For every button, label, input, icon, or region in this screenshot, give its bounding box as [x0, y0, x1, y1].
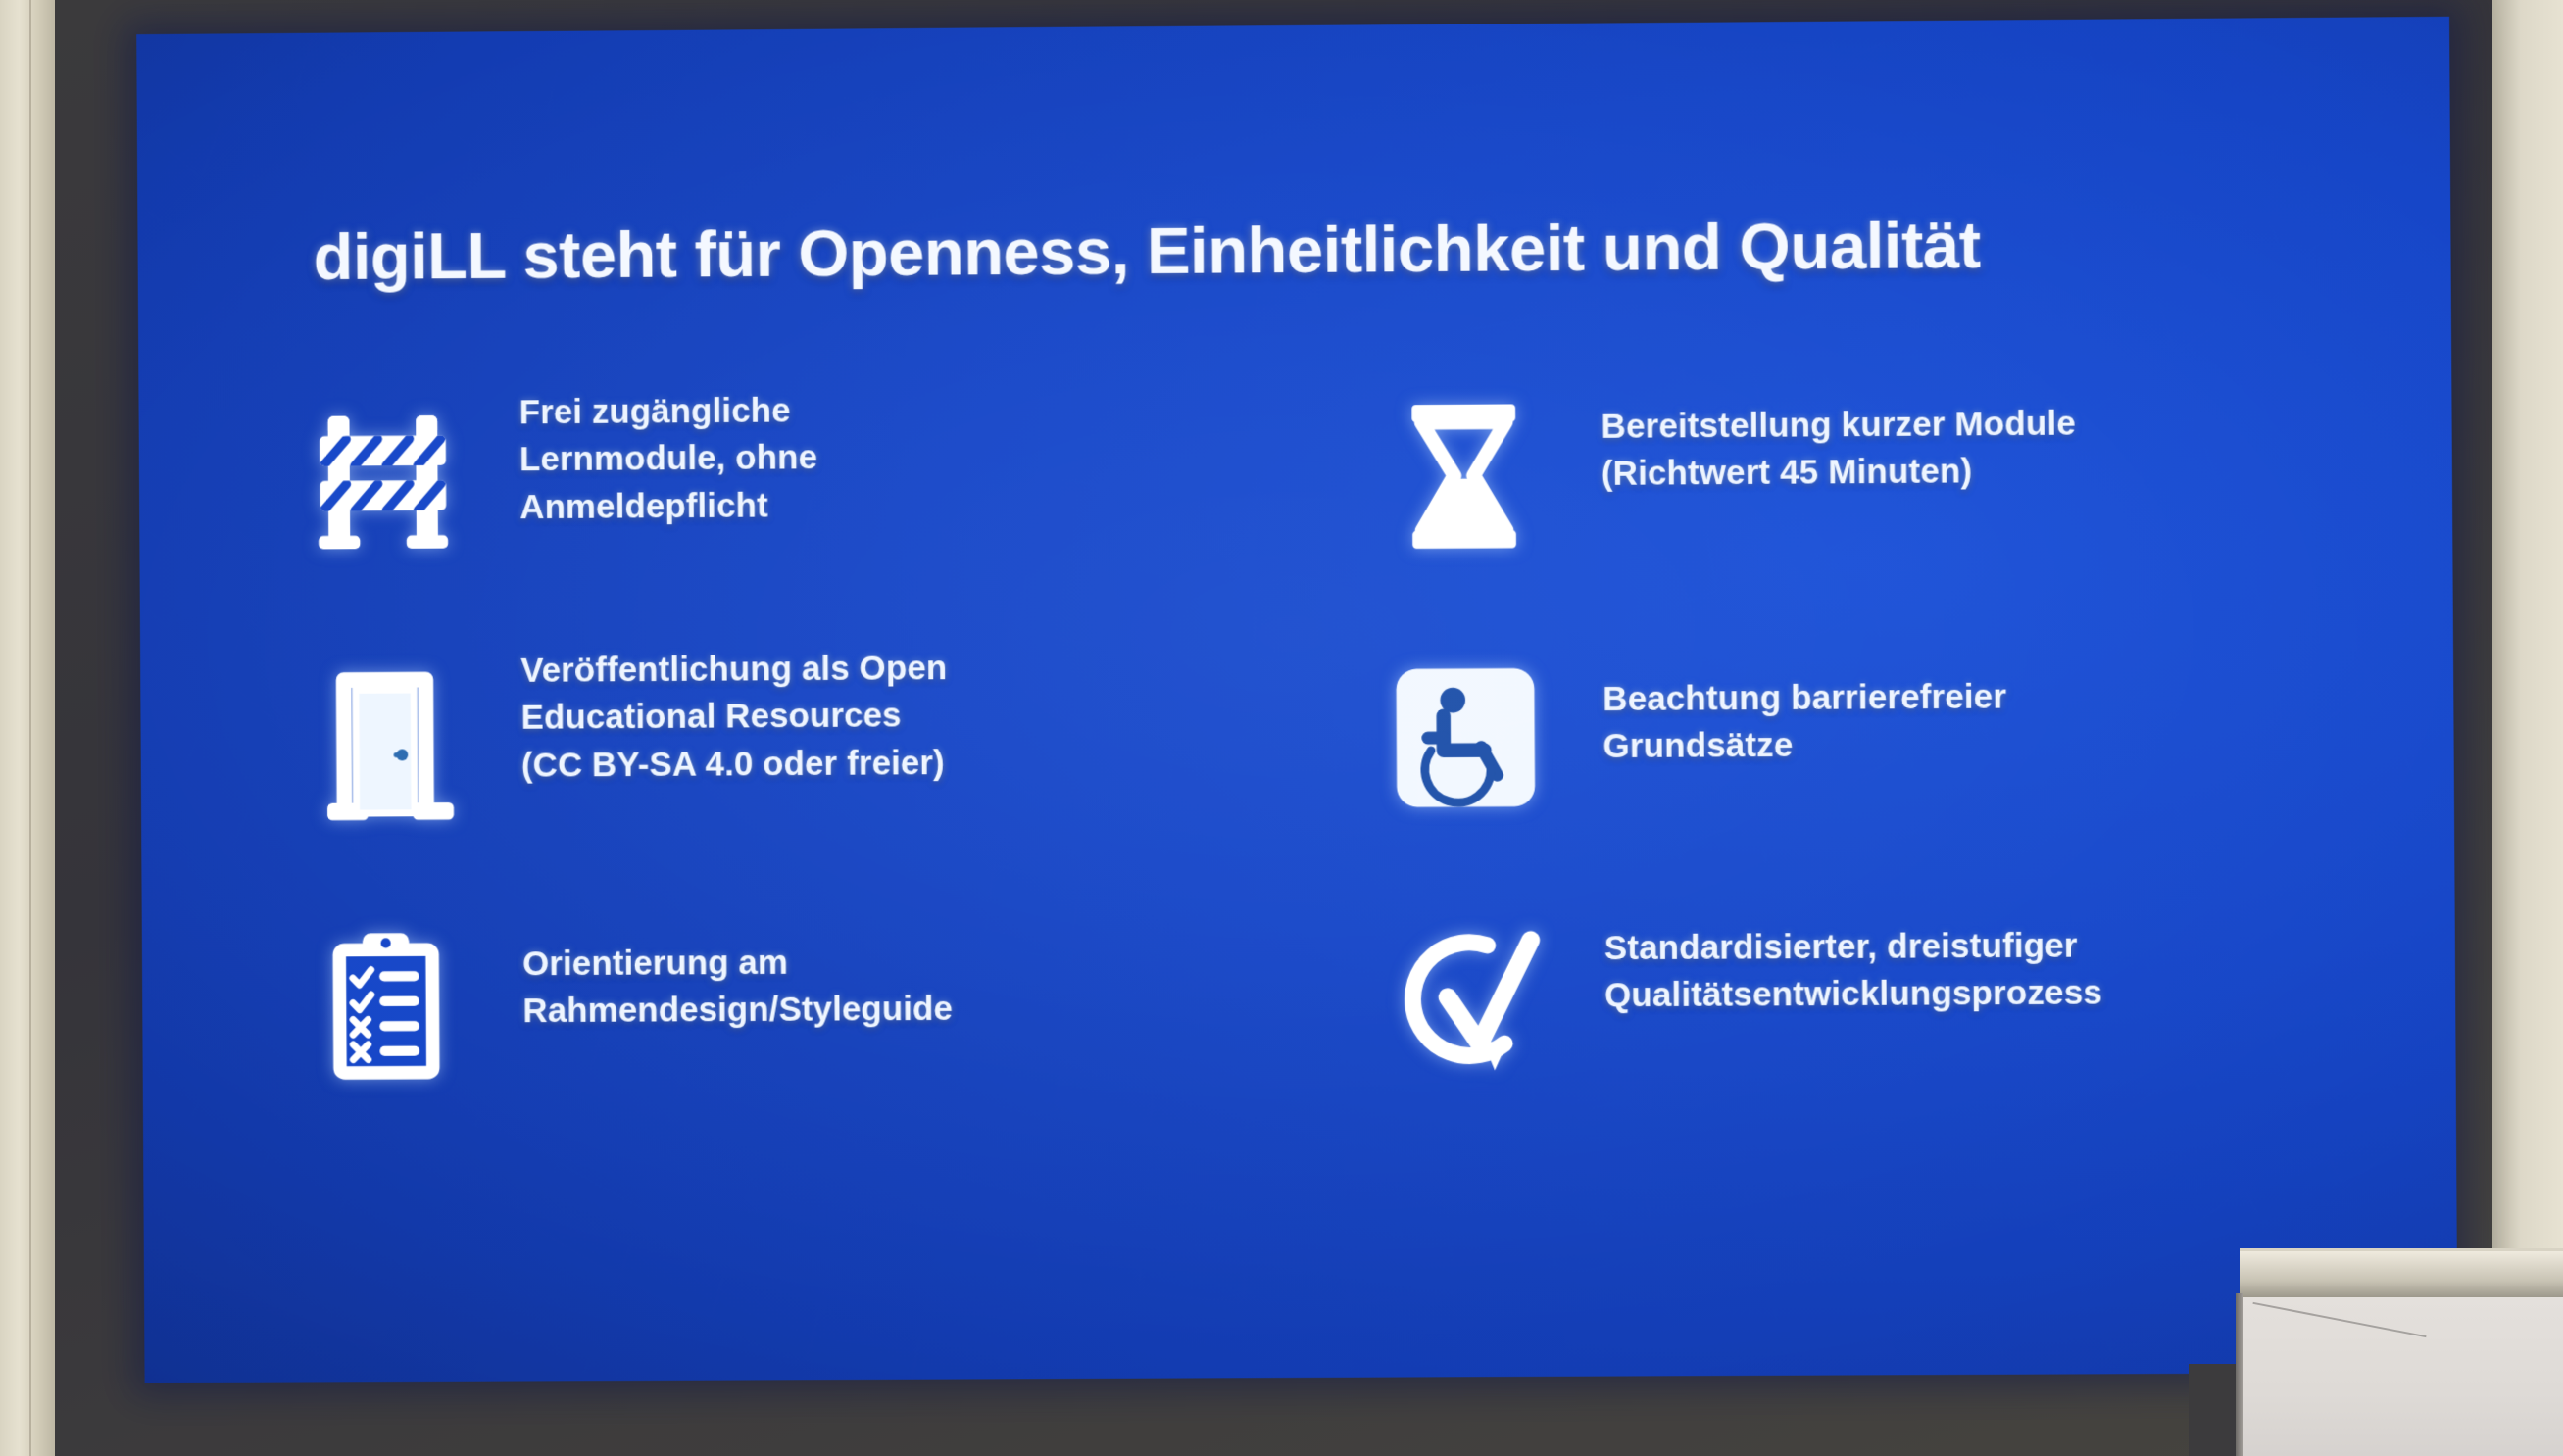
feature-item-text: Frei zugängliche Lernmodule, ohne Anmeld… [519, 378, 1268, 531]
feature-line: Orientierung am [522, 937, 1271, 988]
construction-barrier-icon [285, 384, 481, 581]
flipchart-paper-sheet [2243, 1297, 2563, 1456]
feature-line: Anmeldepflicht [519, 479, 1268, 531]
feature-line: Veröffentlichung als Open [520, 643, 1269, 695]
projected-slide: digiLL steht für Openness, Einheitlichke… [136, 17, 2457, 1383]
feature-line: Qualitätsentwicklungsprozess [1604, 969, 2328, 1020]
flipchart-foreground-object [2230, 1248, 2563, 1456]
feature-line: (Richtwert 45 Minuten) [1602, 446, 2325, 498]
slide-canvas: digiLL steht für Openness, Einheitlichke… [136, 17, 2457, 1383]
wheelchair-accessibility-icon [1367, 639, 1564, 836]
feature-line: Beachtung barrierefreier [1602, 672, 2326, 724]
feature-line: Bereitstellung kurzer Module [1601, 399, 2324, 451]
feature-item-text: Beachtung barrierefreier Grundsätze [1602, 634, 2326, 770]
feature-item-text: Veröffentlichung als Open Educational Re… [520, 641, 1269, 789]
quality-cycle-check-icon [1368, 901, 1565, 1098]
feature-item-styleguide: Orientierung am Rahmendesign/Styleguide [288, 903, 1272, 1171]
feature-line: Standardisierter, dreistufiger [1604, 921, 2328, 972]
feature-item-open-access: Frei zugängliche Lernmodule, ohne Anmeld… [285, 378, 1269, 647]
wall-strip-left [0, 0, 55, 1456]
clipboard-checklist-icon [288, 908, 484, 1105]
feature-line: Grundsätze [1602, 719, 2326, 771]
feature-line: Educational Resources [520, 690, 1269, 742]
hourglass-icon [1365, 376, 1562, 573]
slide-title: digiLL steht für Openness, Einheitlichke… [313, 209, 2323, 292]
flipchart-shadow [2189, 1364, 2238, 1456]
feature-item-short-modules: Bereitstellung kurzer Module (Richtwert … [1336, 371, 2325, 641]
feature-item-text: Standardisierter, dreistufiger Qualitäts… [1603, 898, 2327, 1020]
feature-line: Frei zugängliche [519, 384, 1268, 436]
photographed-presentation-scene: digiLL steht für Openness, Einheitlichke… [0, 0, 2563, 1456]
feature-line: Rahmendesign/Styleguide [522, 984, 1271, 1035]
flipchart-top-rail [2240, 1248, 2563, 1304]
feature-grid: Frei zugängliche Lernmodule, ohne Anmeld… [285, 371, 2329, 1171]
feature-line: (CC BY-SA 4.0 oder freier) [521, 738, 1270, 790]
feature-item-quality-process: Standardisierter, dreistufiger Qualitäts… [1339, 898, 2328, 1166]
feature-line: Lernmodule, ohne [519, 431, 1268, 483]
feature-item-text: Orientierung am Rahmendesign/Styleguide [522, 903, 1271, 1036]
feature-item-oer-license: Veröffentlichung als Open Educational Re… [286, 641, 1270, 909]
wall-strip-right [2492, 0, 2563, 1456]
open-door-icon [286, 646, 482, 843]
feature-item-accessibility: Beachtung barrierefreier Grundsätze [1338, 634, 2327, 902]
feature-item-text: Bereitstellung kurzer Module (Richtwert … [1601, 371, 2324, 499]
flipchart-left-edge [2236, 1293, 2243, 1456]
